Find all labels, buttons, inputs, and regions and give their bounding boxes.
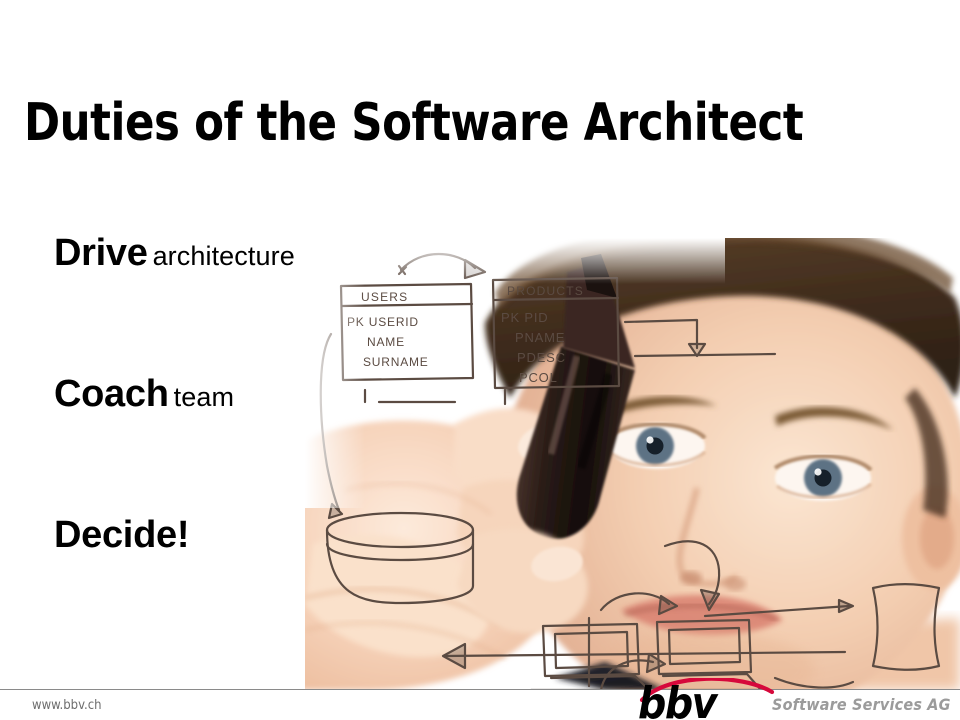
svg-text:PCOL: PCOL [519,370,558,385]
footer-divider [0,689,960,690]
eye-right [775,455,871,501]
bullet-lead: Coach [54,373,169,415]
logo-tagline: Software Services AG [772,695,951,714]
svg-text:PK PID: PK PID [501,310,548,325]
architect-photo: USERS PK USERID NAME SURNAME PRODUCTS PK… [305,238,960,690]
logo-wordmark: bbv [638,678,719,720]
footer-url[interactable]: www.bbv.ch [32,698,102,713]
bullet-item-coach: Coachteam [54,373,384,416]
bullet-tail: architecture [153,241,295,271]
bullet-item-decide: Decide! [54,514,384,557]
bullet-list: Drivearchitecture Coachteam Decide! [54,232,384,557]
bullet-item-drive: Drivearchitecture [54,232,384,275]
slide: Duties of the Software Architect Drivear… [0,0,960,720]
svg-text:PRODUCTS: PRODUCTS [507,284,584,298]
bullet-tail: team [174,382,234,412]
svg-text:PNAME: PNAME [515,330,565,345]
svg-text:PDESC: PDESC [517,350,566,365]
bullet-lead: Drive [54,232,148,274]
eye-left [609,423,705,469]
page-title: Duties of the Software Architect [24,95,861,152]
bullet-lead: Decide! [54,514,189,556]
